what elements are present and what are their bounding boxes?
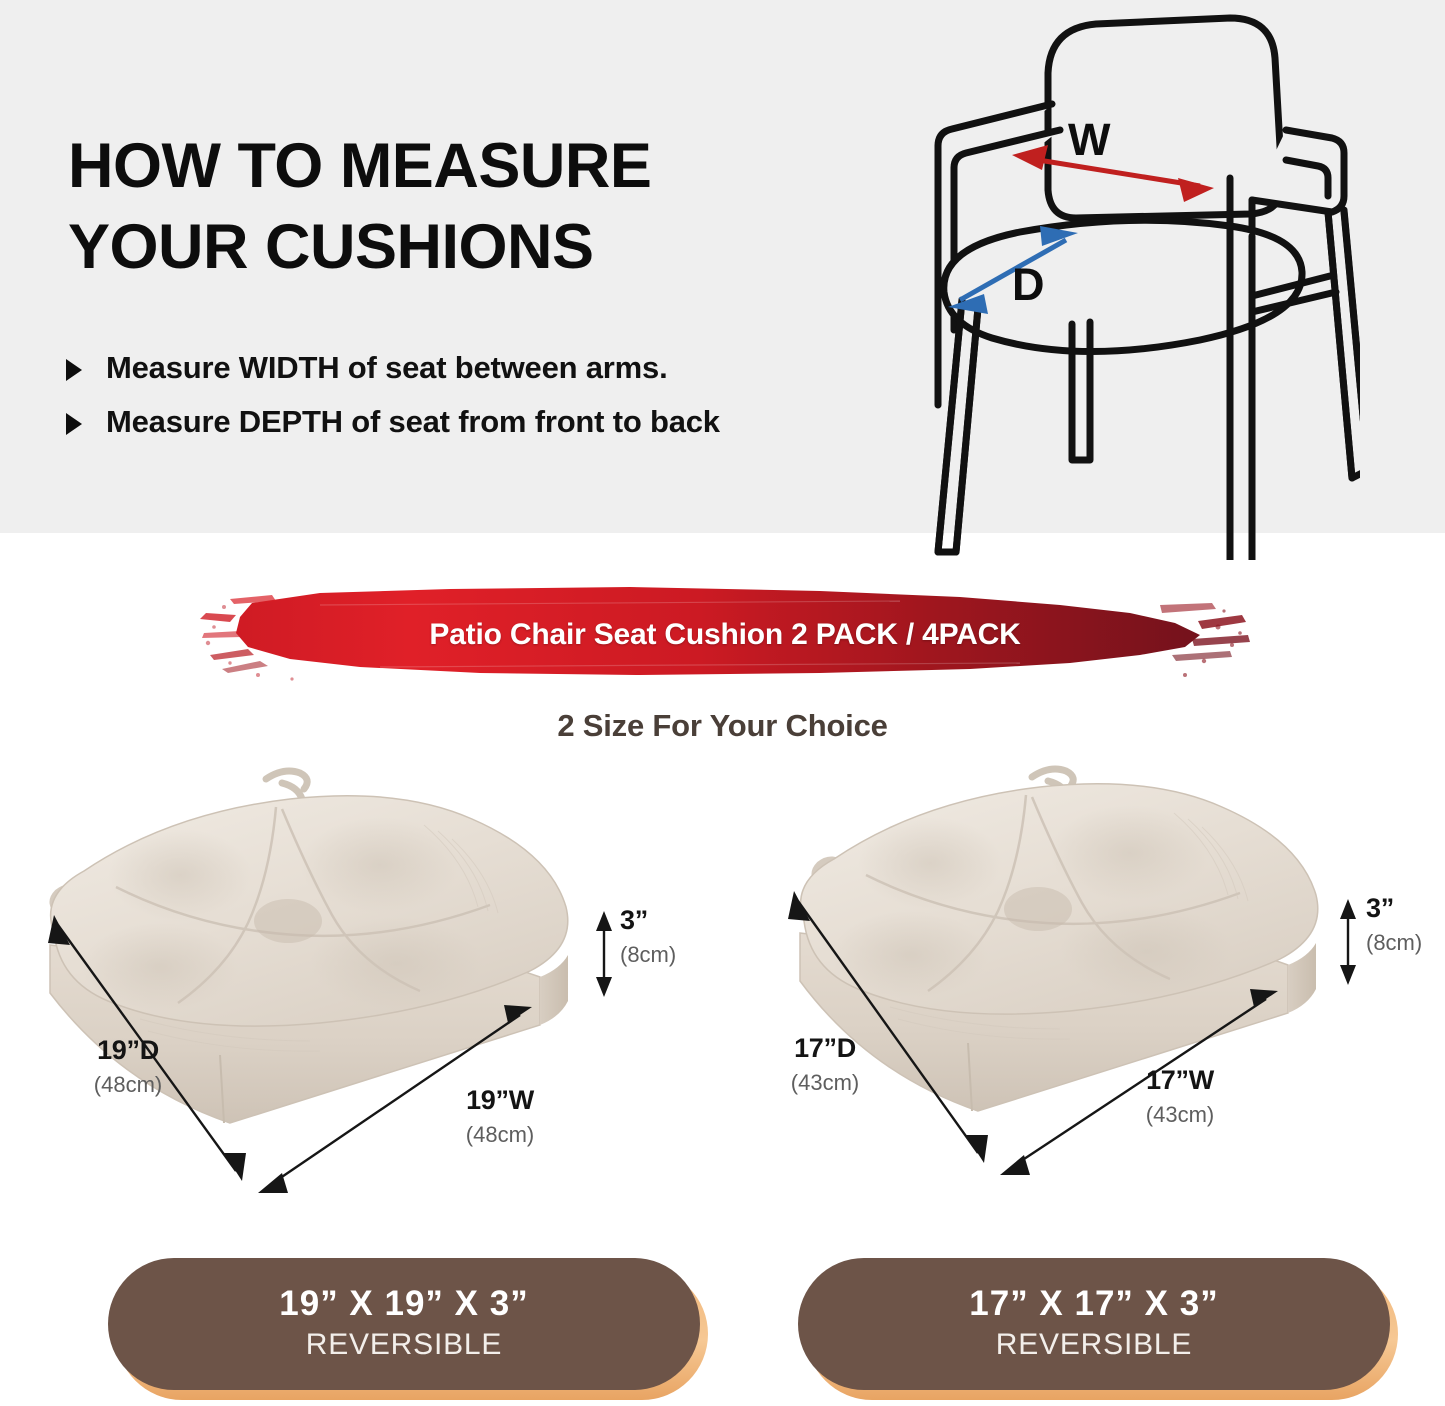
width-dimension-label: 17”W (43cm)	[1090, 1065, 1270, 1128]
infographic-page: HOW TO MEASURE YOUR CUSHIONS Measure WID…	[0, 0, 1445, 1406]
depth-value-metric: (48cm)	[58, 1072, 198, 1098]
height-dimension-label: 3” (8cm)	[620, 905, 730, 968]
width-value-metric: (43cm)	[1090, 1102, 1270, 1128]
size-option-19[interactable]: 19” X 19” X 3” REVERSIBLE	[108, 1258, 700, 1394]
svg-text:D: D	[1012, 259, 1045, 310]
height-value: 3”	[620, 905, 730, 936]
size-label: 19” X 19” X 3”	[279, 1286, 528, 1323]
instructions-list: Measure WIDTH of seat between arms. Meas…	[66, 350, 896, 458]
list-item: Measure DEPTH of seat from front to back	[66, 404, 896, 440]
armchair-measurement-diagram: W D	[900, 0, 1360, 560]
page-title: HOW TO MEASURE YOUR CUSHIONS	[68, 126, 828, 287]
reversible-label: REVERSIBLE	[306, 1328, 502, 1362]
product-figure-19: 19”D (48cm) 19”W (48cm) 3” (8cm)	[20, 755, 720, 1225]
instruction-text: Measure WIDTH of seat between arms.	[106, 350, 668, 386]
depth-value: 17”D	[750, 1033, 900, 1064]
page-title-line-2: YOUR CUSHIONS	[68, 207, 828, 288]
height-value-metric: (8cm)	[1366, 930, 1445, 956]
instruction-text: Measure DEPTH of seat from front to back	[106, 404, 720, 440]
width-value: 19”W	[420, 1085, 580, 1116]
height-dimension-arrow	[596, 911, 612, 997]
size-label: 17” X 17” X 3”	[969, 1286, 1218, 1323]
height-dimension-label: 3” (8cm)	[1366, 893, 1445, 956]
depth-dimension-label: 17”D (43cm)	[750, 1033, 900, 1096]
product-figure-17: 17”D (43cm) 17”W (43cm) 3” (8cm)	[740, 755, 1440, 1225]
pill-body[interactable]: 17” X 17” X 3” REVERSIBLE	[798, 1258, 1390, 1390]
size-option-17[interactable]: 17” X 17” X 3” REVERSIBLE	[798, 1258, 1390, 1394]
depth-dimension-label: 19”D (48cm)	[58, 1035, 198, 1098]
page-title-line-1: HOW TO MEASURE	[68, 126, 828, 207]
depth-value: 19”D	[58, 1035, 198, 1066]
list-item: Measure WIDTH of seat between arms.	[66, 350, 896, 386]
height-value-metric: (8cm)	[620, 942, 730, 968]
reversible-label: REVERSIBLE	[996, 1328, 1192, 1362]
height-dimension-arrow	[1340, 899, 1356, 985]
triangle-bullet-icon	[66, 413, 82, 435]
pill-body[interactable]: 19” X 19” X 3” REVERSIBLE	[108, 1258, 700, 1390]
width-value-metric: (48cm)	[420, 1122, 580, 1148]
svg-text:W: W	[1068, 114, 1111, 165]
width-dimension-label: 19”W (48cm)	[420, 1085, 580, 1148]
promo-banner: Patio Chair Seat Cushion 2 PACK / 4PACK	[200, 575, 1250, 695]
height-value: 3”	[1366, 893, 1445, 924]
section-subtitle: 2 Size For Your Choice	[0, 708, 1445, 744]
triangle-bullet-icon	[66, 359, 82, 381]
width-value: 17”W	[1090, 1065, 1270, 1096]
depth-value-metric: (43cm)	[750, 1070, 900, 1096]
